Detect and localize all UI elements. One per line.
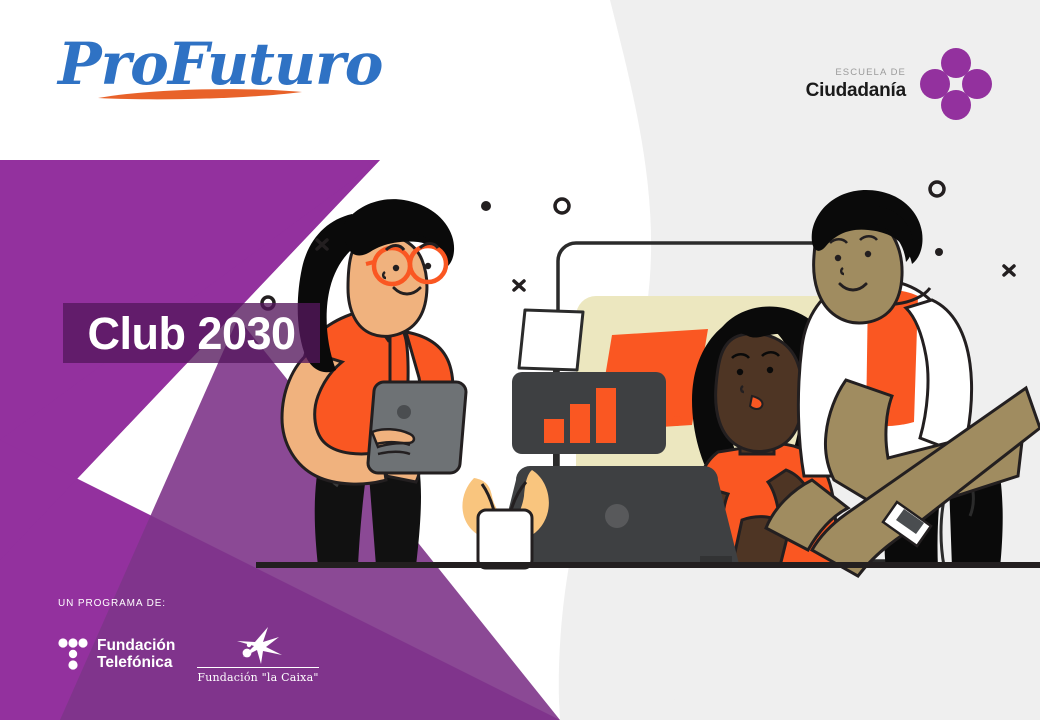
lacaixa-star-icon <box>227 625 289 665</box>
man-leg-seam <box>941 500 944 566</box>
telefonica-line-2: Telefónica <box>97 655 175 671</box>
lacaixa-caption: Fundación "la Caixa" <box>197 667 318 684</box>
laptop-logo <box>605 504 629 528</box>
man-eye-left <box>835 255 841 261</box>
escuela-main-label: Ciudadanía <box>806 81 906 100</box>
cross-x-icon <box>514 281 524 290</box>
telefonica-text-block: Fundación Telefónica <box>97 638 175 671</box>
sticky-note <box>519 310 583 370</box>
escuela-text-block: ESCUELA DE Ciudadanía <box>806 68 906 100</box>
escuela-sub-label: ESCUELA DE <box>806 68 906 78</box>
ring-outline-icon <box>930 182 944 196</box>
cross-x-icon <box>1004 266 1014 275</box>
fundacion-lacaixa-logo[interactable]: Fundación "la Caixa" <box>197 625 318 684</box>
figure-woman-with-tablet <box>282 199 466 566</box>
tablet-device <box>368 382 466 473</box>
chart-bar-1 <box>544 419 564 443</box>
dot-filled-icon <box>481 201 491 211</box>
club-2030-badge[interactable]: Club 2030 <box>63 303 320 363</box>
escuela-ciudadania-logo[interactable]: ESCUELA DE Ciudadanía <box>806 48 992 120</box>
chart-bar-2 <box>570 404 590 443</box>
slide-canvas: ProFuturo ESCUELA DE Ciudadanía Club 203… <box>0 0 1040 720</box>
desk-line <box>256 562 1040 568</box>
man-eye-right <box>865 251 871 257</box>
figure-standing-man <box>766 190 1040 576</box>
club-2030-title: Club 2030 <box>87 311 295 356</box>
tablet-camera <box>397 405 411 419</box>
seated-eye-right <box>767 367 773 373</box>
poster-dot <box>672 416 682 426</box>
footer-block: UN PROGRAMA DE: Fundación Telefónica <box>58 598 388 684</box>
chart-bar-3 <box>596 388 616 443</box>
woman-eye-left <box>393 265 399 271</box>
telefonica-dot-t-icon <box>58 638 88 672</box>
ring-outline-icon <box>555 199 569 213</box>
profuturo-wordmark: ProFuturo <box>58 30 382 98</box>
seated-face <box>716 334 803 452</box>
seated-eye-left <box>737 369 743 375</box>
dot-filled-icon <box>935 248 943 256</box>
fundacion-telefonica-logo[interactable]: Fundación Telefónica <box>58 638 175 672</box>
telefonica-line-1: Fundación <box>97 638 175 654</box>
program-label: UN PROGRAMA DE: <box>58 598 388 609</box>
four-circle-flower-icon <box>920 48 992 120</box>
partner-logo-row: Fundación Telefónica Fundación "la Caixa… <box>58 625 388 684</box>
profuturo-logo[interactable]: ProFuturo <box>58 34 328 114</box>
woman-eye-right <box>425 263 431 269</box>
monitor-bar-chart <box>512 372 666 454</box>
plant-pot <box>478 510 532 568</box>
